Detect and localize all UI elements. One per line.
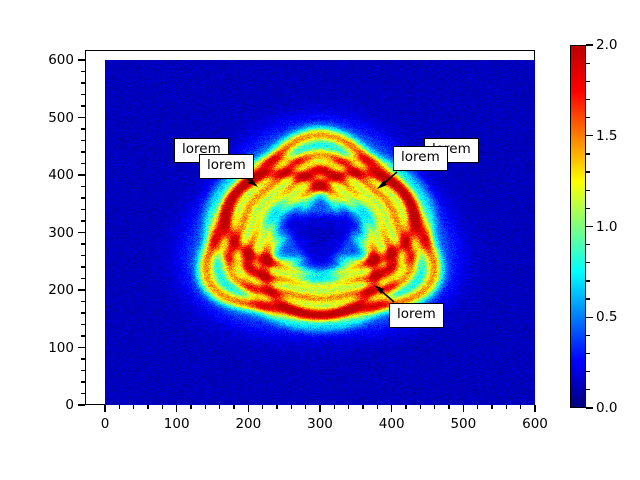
colorbar-tick-label: 1.5 bbox=[596, 128, 617, 144]
annotation-label-upper-left-front[interactable]: lorem bbox=[199, 154, 254, 179]
colorbar-minor-tick bbox=[586, 280, 590, 281]
y-major-tick bbox=[78, 289, 85, 290]
y-minor-tick bbox=[81, 370, 85, 371]
y-minor-tick bbox=[81, 220, 85, 221]
x-minor-tick bbox=[448, 405, 449, 409]
colorbar-major-tick bbox=[586, 317, 593, 318]
y-minor-tick bbox=[81, 151, 85, 152]
x-minor-tick bbox=[305, 405, 306, 409]
y-major-tick bbox=[78, 174, 85, 175]
x-minor-tick bbox=[520, 405, 521, 409]
colorbar-minor-tick bbox=[586, 389, 590, 390]
x-tick-label: 500 bbox=[450, 416, 476, 432]
y-minor-tick bbox=[81, 255, 85, 256]
colorbar-tick-label: 0.5 bbox=[596, 309, 617, 325]
annotation-label-lower-right[interactable]: lorem bbox=[389, 303, 444, 328]
x-minor-tick bbox=[133, 405, 134, 409]
x-tick-label: 100 bbox=[164, 416, 190, 432]
x-major-tick bbox=[248, 405, 249, 412]
x-minor-tick bbox=[420, 405, 421, 409]
y-major-tick bbox=[78, 404, 85, 405]
y-tick-label: 300 bbox=[48, 225, 74, 241]
colorbar-gradient bbox=[570, 45, 586, 408]
x-major-tick bbox=[391, 405, 392, 412]
y-minor-tick bbox=[81, 94, 85, 95]
x-tick-label: 600 bbox=[522, 416, 548, 432]
colorbar-minor-tick bbox=[586, 244, 590, 245]
colorbar-minor-tick bbox=[586, 81, 590, 82]
x-major-tick bbox=[463, 405, 464, 412]
y-minor-tick bbox=[81, 140, 85, 141]
x-minor-tick bbox=[434, 405, 435, 409]
colorbar-tick-label: 0.0 bbox=[596, 400, 617, 416]
y-minor-tick bbox=[81, 324, 85, 325]
x-minor-tick bbox=[190, 405, 191, 409]
x-minor-tick bbox=[291, 405, 292, 409]
y-minor-tick bbox=[81, 209, 85, 210]
colorbar-major-tick bbox=[586, 226, 593, 227]
y-major-tick bbox=[78, 347, 85, 348]
x-minor-tick bbox=[405, 405, 406, 409]
y-tick-label: 200 bbox=[48, 282, 74, 298]
x-minor-tick bbox=[233, 405, 234, 409]
x-minor-tick bbox=[119, 405, 120, 409]
y-major-tick bbox=[78, 232, 85, 233]
y-minor-tick bbox=[81, 186, 85, 187]
x-minor-tick bbox=[491, 405, 492, 409]
annotation-label-upper-right-front[interactable]: lorem bbox=[393, 146, 448, 171]
y-major-tick bbox=[78, 59, 85, 60]
x-minor-tick bbox=[334, 405, 335, 409]
y-minor-tick bbox=[81, 163, 85, 164]
colorbar-minor-tick bbox=[586, 353, 590, 354]
colorbar-tick-label: 1.0 bbox=[596, 219, 617, 235]
colorbar-minor-tick bbox=[586, 190, 590, 191]
x-tick-label: 200 bbox=[235, 416, 261, 432]
colorbar-major-tick bbox=[586, 135, 593, 136]
colorbar-minor-tick bbox=[586, 298, 590, 299]
y-minor-tick bbox=[81, 266, 85, 267]
x-minor-tick bbox=[205, 405, 206, 409]
y-minor-tick bbox=[81, 71, 85, 72]
y-tick-label: 100 bbox=[48, 340, 74, 356]
x-major-tick bbox=[104, 405, 105, 412]
x-tick-label: 400 bbox=[379, 416, 405, 432]
y-minor-tick bbox=[81, 128, 85, 129]
y-minor-tick bbox=[81, 335, 85, 336]
x-major-tick bbox=[534, 405, 535, 412]
x-minor-tick bbox=[506, 405, 507, 409]
x-minor-tick bbox=[348, 405, 349, 409]
colorbar-major-tick bbox=[586, 407, 593, 408]
colorbar-major-tick bbox=[586, 44, 593, 45]
colorbar: 0.00.51.01.52.0 bbox=[570, 45, 586, 408]
y-minor-tick bbox=[81, 301, 85, 302]
colorbar-minor-tick bbox=[586, 153, 590, 154]
colorbar-minor-tick bbox=[586, 208, 590, 209]
y-minor-tick bbox=[81, 278, 85, 279]
y-tick-label: 0 bbox=[65, 397, 74, 413]
x-minor-tick bbox=[262, 405, 263, 409]
y-minor-tick bbox=[81, 82, 85, 83]
x-minor-tick bbox=[162, 405, 163, 409]
x-minor-tick bbox=[477, 405, 478, 409]
x-major-tick bbox=[176, 405, 177, 412]
y-minor-tick bbox=[81, 312, 85, 313]
x-minor-tick bbox=[362, 405, 363, 409]
y-major-tick bbox=[78, 117, 85, 118]
x-minor-tick bbox=[377, 405, 378, 409]
colorbar-minor-tick bbox=[586, 262, 590, 263]
x-tick-label: 300 bbox=[307, 416, 333, 432]
x-minor-tick bbox=[276, 405, 277, 409]
y-minor-tick bbox=[81, 358, 85, 359]
colorbar-tick-label: 2.0 bbox=[596, 37, 617, 53]
y-tick-label: 500 bbox=[48, 110, 74, 126]
x-minor-tick bbox=[219, 405, 220, 409]
y-minor-tick bbox=[81, 393, 85, 394]
colorbar-minor-tick bbox=[586, 171, 590, 172]
colorbar-minor-tick bbox=[586, 371, 590, 372]
y-minor-tick bbox=[81, 381, 85, 382]
colorbar-minor-tick bbox=[586, 117, 590, 118]
x-minor-tick bbox=[147, 405, 148, 409]
colorbar-minor-tick bbox=[586, 99, 590, 100]
heatmap-image bbox=[105, 60, 535, 405]
y-tick-label: 400 bbox=[48, 167, 74, 183]
y-minor-tick bbox=[81, 105, 85, 106]
x-major-tick bbox=[319, 405, 320, 412]
y-minor-tick bbox=[81, 243, 85, 244]
y-tick-label: 600 bbox=[48, 52, 74, 68]
colorbar-minor-tick bbox=[586, 335, 590, 336]
x-tick-label: 0 bbox=[101, 416, 110, 432]
y-minor-tick bbox=[81, 197, 85, 198]
colorbar-minor-tick bbox=[586, 63, 590, 64]
figure-root: 01002003004005006000100200300400500600 0… bbox=[0, 0, 640, 480]
